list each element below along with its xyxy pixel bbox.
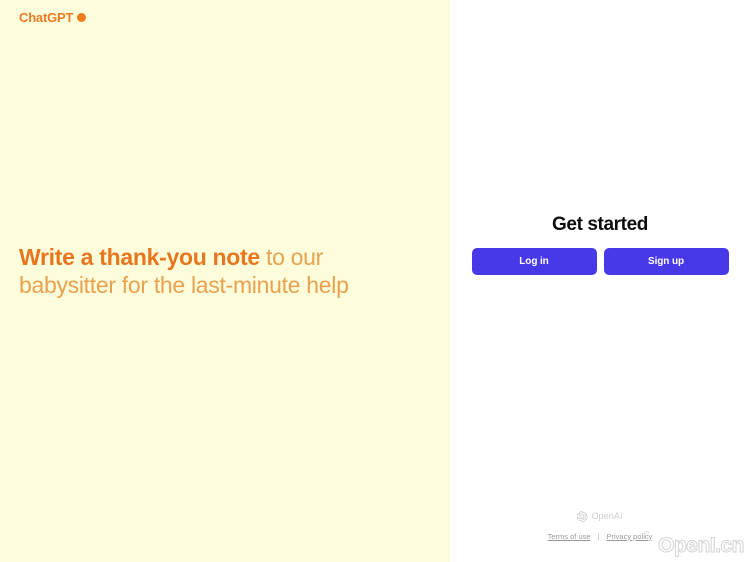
footer: OpenAI Terms of use | Privacy policy xyxy=(450,511,750,541)
left-promo-panel: ChatGPT Write a thank-you note to our ba… xyxy=(0,0,450,562)
chatgpt-wordmark: ChatGPT xyxy=(19,11,73,24)
footer-links: Terms of use | Privacy policy xyxy=(548,533,653,541)
openai-label: OpenAI xyxy=(591,512,622,521)
right-auth-panel: Get started Log in Sign up OpenAI Terms … xyxy=(450,0,750,562)
privacy-policy-link[interactable]: Privacy policy xyxy=(607,533,653,541)
openai-knot-icon xyxy=(577,511,588,522)
suggestion-prompt: Write a thank-you note to our babysitter… xyxy=(19,243,419,299)
openai-branding: OpenAI xyxy=(577,511,622,522)
chatgpt-brand-logo: ChatGPT xyxy=(19,11,86,24)
login-button[interactable]: Log in xyxy=(472,248,597,275)
auth-block: Get started Log in Sign up xyxy=(450,215,750,275)
signup-button[interactable]: Sign up xyxy=(604,248,729,275)
auth-button-group: Log in Sign up xyxy=(472,248,729,275)
terms-of-use-link[interactable]: Terms of use xyxy=(548,533,591,541)
chatgpt-welcome-page: ChatGPT Write a thank-you note to our ba… xyxy=(0,0,750,562)
footer-separator: | xyxy=(598,533,600,541)
orange-dot-icon xyxy=(77,13,86,22)
suggestion-prompt-bold: Write a thank-you note xyxy=(19,244,260,270)
page-title: Get started xyxy=(552,215,648,234)
